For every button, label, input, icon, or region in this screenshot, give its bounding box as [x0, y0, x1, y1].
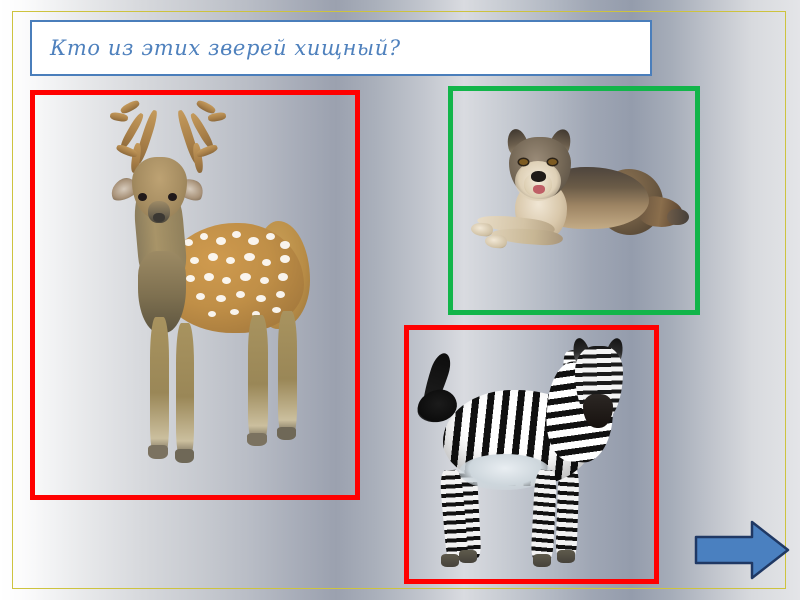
- deer-eye-right: [168, 193, 177, 201]
- wolf-paw-front-right: [485, 234, 508, 249]
- answer-option-zebra[interactable]: [404, 325, 659, 584]
- zebra-image: [409, 330, 654, 579]
- deer-nose: [153, 213, 165, 222]
- deer-illustration: [80, 101, 330, 483]
- next-slide-button[interactable]: [694, 519, 790, 581]
- wolf-tongue: [533, 185, 545, 194]
- answer-option-wolf[interactable]: [448, 86, 700, 315]
- arrow-right-icon[interactable]: [694, 519, 790, 581]
- slide-canvas: Кто из этих зверей хищный?: [0, 0, 800, 600]
- wolf-nose: [531, 171, 546, 182]
- wolf-eye-left: [519, 159, 528, 165]
- page-title: Кто из этих зверей хищный?: [32, 36, 401, 60]
- answer-option-deer[interactable]: [30, 90, 360, 500]
- deer-eye-left: [138, 193, 147, 201]
- question-title-box: Кто из этих зверей хищный?: [30, 20, 652, 76]
- zebra-illustration: [415, 338, 651, 578]
- deer-image: [35, 95, 355, 495]
- wolf-eye-right: [548, 159, 557, 165]
- wolf-image: [453, 91, 695, 310]
- wolf-illustration: [469, 113, 689, 293]
